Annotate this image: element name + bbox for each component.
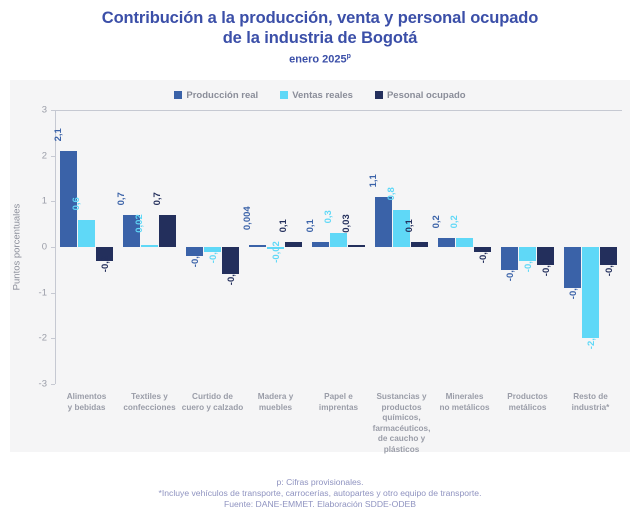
page-title: Contribución a la producción, venta y pe… <box>0 8 640 48</box>
x-category-line: industria* <box>559 403 622 414</box>
x-category-line: Sustancias y <box>370 392 433 403</box>
bar-value-label: -0,4 <box>604 260 615 276</box>
bar-0[interactable]: -0,2 <box>186 247 203 256</box>
chart-subtitle: enero 2025p <box>0 53 640 66</box>
bar-2[interactable]: -0,4 <box>600 247 617 265</box>
y-tick-label: 3 <box>42 105 47 116</box>
footer-line-3: Fuente: DANE-EMMET. Elaboración SDDE-ODE… <box>0 499 640 510</box>
title-block: Contribución a la producción, venta y pe… <box>0 0 640 66</box>
bar-value-label: -0,2 <box>190 251 201 267</box>
x-category-label: Mineralesno metálicos <box>433 392 496 413</box>
subtitle-superscript: p <box>347 53 351 60</box>
bar-2[interactable]: -0,3 <box>96 247 113 261</box>
x-category-line: imprentas <box>307 403 370 414</box>
legend-label: Ventas reales <box>292 90 353 101</box>
x-category-label: Papel eimprentas <box>307 392 370 413</box>
plot-area: Puntos porcentuales 3210-1-2-32,10,6-0,3… <box>55 110 622 384</box>
bar-value-label: 0,1 <box>278 220 289 233</box>
legend-swatch-icon <box>375 91 383 99</box>
x-category-line: confecciones <box>118 403 181 414</box>
bar-2[interactable]: -0,1 <box>474 247 491 252</box>
bar-1[interactable]: 0,6 <box>78 220 95 247</box>
x-category-line: químicos, <box>370 413 433 424</box>
legend-item-1[interactable]: Ventas reales <box>280 90 353 101</box>
y-axis-title: Puntos porcentuales <box>12 204 23 291</box>
bar-0[interactable]: 0,004 <box>249 245 266 247</box>
x-category-line: metálicos <box>496 403 559 414</box>
legend-item-2[interactable]: Pesonal ocupado <box>375 90 466 101</box>
bar-value-label: -0,02 <box>271 241 282 263</box>
bar-value-label: 0,02 <box>134 214 145 233</box>
x-category-label: Productosmetálicos <box>496 392 559 413</box>
x-category-line: Curtido de <box>181 392 244 403</box>
x-category-label: Madera ymuebles <box>244 392 307 413</box>
bar-1[interactable]: 0,3 <box>330 233 347 247</box>
x-category-line: cuero y calzado <box>181 403 244 414</box>
bar-value-label: -0,3 <box>523 256 534 272</box>
bar-group: 2,10,6-0,3 <box>55 110 118 384</box>
bar-value-label: 0,8 <box>386 188 397 201</box>
x-category-line: Minerales <box>433 392 496 403</box>
bar-value-label: 0,1 <box>305 220 316 233</box>
y-tick-label: 1 <box>42 196 47 207</box>
bar-value-label: 0,004 <box>242 206 253 230</box>
legend-label: Producción real <box>186 90 258 101</box>
subtitle-text: enero 2025 <box>289 54 346 66</box>
x-category-label: Sustancias yproductosquímicos,farmacéuti… <box>370 392 433 455</box>
legend-item-0[interactable]: Producción real <box>174 90 258 101</box>
bar-1[interactable]: 0,2 <box>456 238 473 247</box>
bar-2[interactable]: 0,03 <box>348 245 365 247</box>
x-category-line: no metálicos <box>433 403 496 414</box>
x-category-line: Productos <box>496 392 559 403</box>
x-category-line: productos <box>370 403 433 414</box>
chart-panel: Producción realVentas realesPesonal ocup… <box>10 80 630 452</box>
footer-notes: p: Cifras provisionales. *Incluye vehícu… <box>0 477 640 510</box>
bar-1[interactable]: -0,02 <box>267 247 284 249</box>
chart-legend: Producción realVentas realesPesonal ocup… <box>10 90 630 101</box>
legend-label: Pesonal ocupado <box>387 90 466 101</box>
title-line-1: Contribución a la producción, venta y pe… <box>102 9 539 27</box>
x-category-line: plásticos <box>370 445 433 456</box>
bar-2[interactable]: -0,6 <box>222 247 239 274</box>
bar-group: -0,5-0,3-0,4 <box>496 110 559 384</box>
bar-value-label: -0,6 <box>226 269 237 285</box>
bar-2[interactable]: -0,4 <box>537 247 554 265</box>
bar-value-label: 1,1 <box>368 174 379 187</box>
bar-value-label: -0,9 <box>568 283 579 299</box>
bar-value-label: -0,3 <box>100 256 111 272</box>
bar-2[interactable]: 0,1 <box>285 242 302 247</box>
bar-group: -0,9-2,0-0,4 <box>559 110 622 384</box>
x-category-line: de caucho y <box>370 434 433 445</box>
bar-1[interactable]: -0,1 <box>204 247 221 252</box>
bar-2[interactable]: 0,7 <box>159 215 176 247</box>
y-tick-label: -2 <box>39 333 47 344</box>
bar-value-label: -0,4 <box>541 260 552 276</box>
bar-group: 0,70,020,7 <box>118 110 181 384</box>
bar-value-label: 0,7 <box>116 192 127 205</box>
bar-1[interactable]: -0,3 <box>519 247 536 261</box>
bar-0[interactable]: -0,5 <box>501 247 518 270</box>
bar-value-label: 0,2 <box>431 215 442 228</box>
x-category-label: Curtido decuero y calzado <box>181 392 244 413</box>
title-line-2: de la industria de Bogotá <box>0 28 640 48</box>
bar-value-label: 0,03 <box>341 214 352 233</box>
x-category-label: Resto deindustria* <box>559 392 622 413</box>
y-tick-label: -1 <box>39 287 47 298</box>
x-category-line: muebles <box>244 403 307 414</box>
x-category-line: Madera y <box>244 392 307 403</box>
bar-value-label: 2,1 <box>53 128 64 141</box>
bar-0[interactable]: -0,9 <box>564 247 581 288</box>
footer-line-1: p: Cifras provisionales. <box>0 477 640 488</box>
y-tick-label: 2 <box>42 150 47 161</box>
legend-swatch-icon <box>174 91 182 99</box>
bar-group: 0,004-0,020,1 <box>244 110 307 384</box>
bar-value-label: -2,0 <box>586 333 597 349</box>
bar-value-label: 0,2 <box>449 215 460 228</box>
bar-1[interactable]: -2,0 <box>582 247 599 338</box>
y-tick-6 <box>51 384 55 385</box>
bar-value-label: 0,6 <box>71 197 82 210</box>
bar-0[interactable]: 0,2 <box>438 238 455 247</box>
x-category-line: Alimentos <box>55 392 118 403</box>
x-category-label: Alimentosy bebidas <box>55 392 118 413</box>
x-category-line: Resto de <box>559 392 622 403</box>
footer-line-2: *Incluye vehículos de transporte, carroc… <box>0 488 640 499</box>
bar-2[interactable]: 0,1 <box>411 242 428 247</box>
bar-value-label: 0,3 <box>323 210 334 223</box>
bar-group: 0,10,30,03 <box>307 110 370 384</box>
bar-value-label: -0,1 <box>208 246 219 262</box>
x-category-label: Textiles yconfecciones <box>118 392 181 413</box>
bar-0[interactable]: 0,1 <box>312 242 329 247</box>
x-category-line: Textiles y <box>118 392 181 403</box>
bar-1[interactable]: 0,02 <box>141 245 158 247</box>
y-tick-label: -3 <box>39 379 47 390</box>
legend-swatch-icon <box>280 91 288 99</box>
x-category-line: Papel e <box>307 392 370 403</box>
bar-value-label: -0,5 <box>505 265 516 281</box>
x-category-line: y bebidas <box>55 403 118 414</box>
bar-group: 0,20,2-0,1 <box>433 110 496 384</box>
bar-0[interactable]: 1,1 <box>375 197 392 247</box>
bar-value-label: 0,7 <box>152 192 163 205</box>
bar-group: -0,2-0,1-0,6 <box>181 110 244 384</box>
bar-group: 1,10,80,1 <box>370 110 433 384</box>
x-category-line: farmacéuticos, <box>370 424 433 435</box>
y-tick-label: 0 <box>42 242 47 253</box>
bar-value-label: 0,1 <box>404 220 415 233</box>
bar-value-label: -0,1 <box>478 246 489 262</box>
